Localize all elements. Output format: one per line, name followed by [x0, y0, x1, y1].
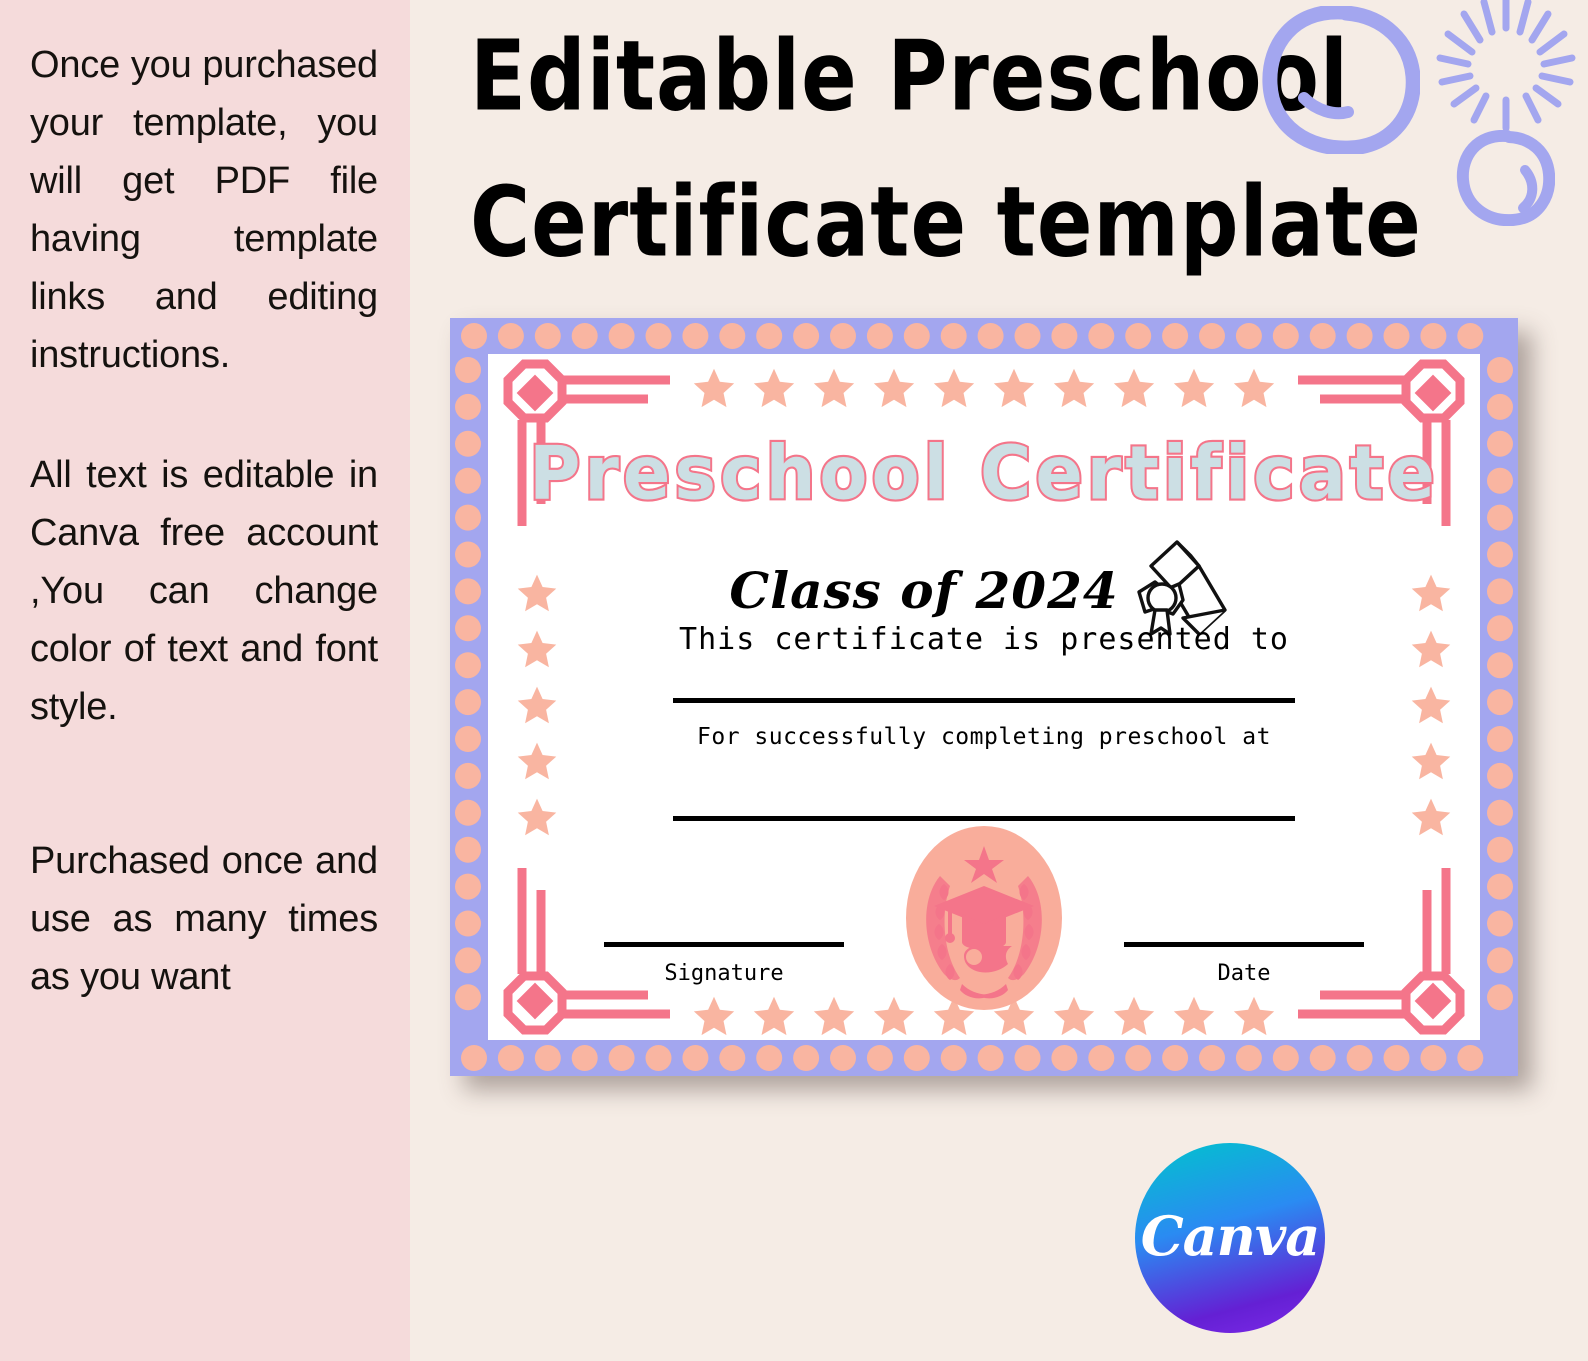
recipient-name-line[interactable] — [673, 698, 1295, 703]
certificate-preview: Preschool Certificate Class of 2024 This… — [450, 318, 1518, 1076]
canva-logo[interactable]: Canva — [1135, 1143, 1325, 1333]
star-icon — [1232, 994, 1276, 1038]
for-completing-text: For successfully completing preschool at — [488, 724, 1480, 750]
date-line[interactable] — [1124, 942, 1364, 947]
star-icon — [692, 994, 736, 1038]
star-icon — [872, 366, 916, 410]
hand-drawn-circle-doodle-icon — [1258, 6, 1420, 154]
star-icon — [1410, 796, 1452, 838]
star-icon — [1172, 366, 1216, 410]
star-icon — [752, 994, 796, 1038]
star-icon — [1410, 684, 1452, 726]
certificate-canvas: Preschool Certificate Class of 2024 This… — [488, 354, 1480, 1040]
class-of-text: Class of 2024 — [729, 561, 1118, 620]
graduation-seal-icon — [904, 824, 1064, 1012]
presented-to-text: This certificate is presented to — [488, 622, 1480, 657]
star-icon — [932, 366, 976, 410]
small-circle-doodle-icon — [1455, 130, 1555, 226]
certificate-title: Preschool Certificate — [488, 430, 1480, 517]
date-label: Date — [1124, 961, 1364, 986]
signature-block: Signature — [604, 942, 844, 986]
star-icon — [516, 796, 558, 838]
info-paragraph-2: All text is editable in Canva free accou… — [30, 446, 378, 736]
star-icon — [1112, 994, 1156, 1038]
star-row-top — [692, 366, 1276, 410]
page-title-line-2: Certificate template — [470, 160, 1370, 287]
star-icon — [812, 366, 856, 410]
page-title: Editable Preschool Certificate template — [470, 14, 1370, 268]
star-icon — [812, 994, 856, 1038]
star-icon — [1232, 366, 1276, 410]
signature-line[interactable] — [604, 942, 844, 947]
star-icon — [752, 366, 796, 410]
starburst-sparkle-doodle-icon — [1430, 0, 1580, 140]
canva-wordmark: Canva — [1141, 1204, 1320, 1268]
info-paragraph-3: Purchased once and use as many times as … — [30, 832, 378, 1006]
star-icon — [1052, 366, 1096, 410]
info-sidebar: Once you purchased your template, you wi… — [0, 0, 410, 1361]
star-icon — [1172, 994, 1216, 1038]
info-paragraph-1: Once you purchased your template, you wi… — [30, 36, 378, 384]
star-icon — [992, 366, 1036, 410]
page-title-line-1: Editable Preschool — [470, 14, 1370, 141]
signature-label: Signature — [604, 961, 844, 986]
date-block: Date — [1124, 942, 1364, 986]
star-icon — [692, 366, 736, 410]
star-icon — [516, 684, 558, 726]
school-name-line[interactable] — [673, 816, 1295, 821]
star-icon — [1112, 366, 1156, 410]
